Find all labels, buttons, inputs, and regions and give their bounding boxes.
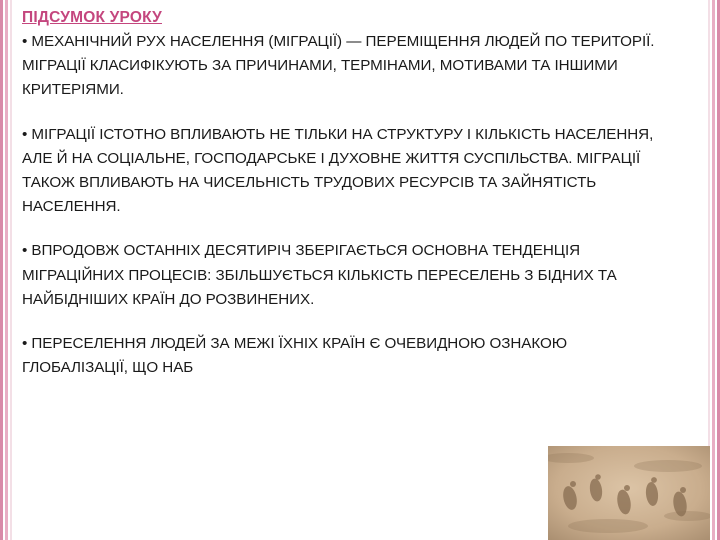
summary-paragraph-1: • МЕХАНІЧНИЙ РУХ НАСЕЛЕННЯ (МІГРАЦІЇ) — … [22,30,670,103]
footprints-in-sand-photo [548,446,710,540]
slide-title: ПІДСУМОК УРОКУ [22,8,670,28]
summary-paragraph-4: • ПЕРЕСЕЛЕННЯ ЛЮДЕЙ ЗА МЕЖІ ЇХНІХ КРАЇН … [22,332,670,380]
sand-footprints-illustration [548,446,710,540]
left-decorative-border [0,0,14,540]
summary-paragraph-3: • ВПРОДОВЖ ОСТАННІХ ДЕСЯТИРІЧ ЗБЕРІГАЄТЬ… [22,239,670,312]
summary-paragraph-2: • МІГРАЦІЇ ІСТОТНО ВПЛИВАЮТЬ НЕ ТІЛЬКИ Н… [22,123,670,220]
slide-content: ПІДСУМОК УРОКУ • МЕХАНІЧНИЙ РУХ НАСЕЛЕНН… [22,8,670,380]
presentation-slide: ПІДСУМОК УРОКУ • МЕХАНІЧНИЙ РУХ НАСЕЛЕНН… [0,0,720,540]
